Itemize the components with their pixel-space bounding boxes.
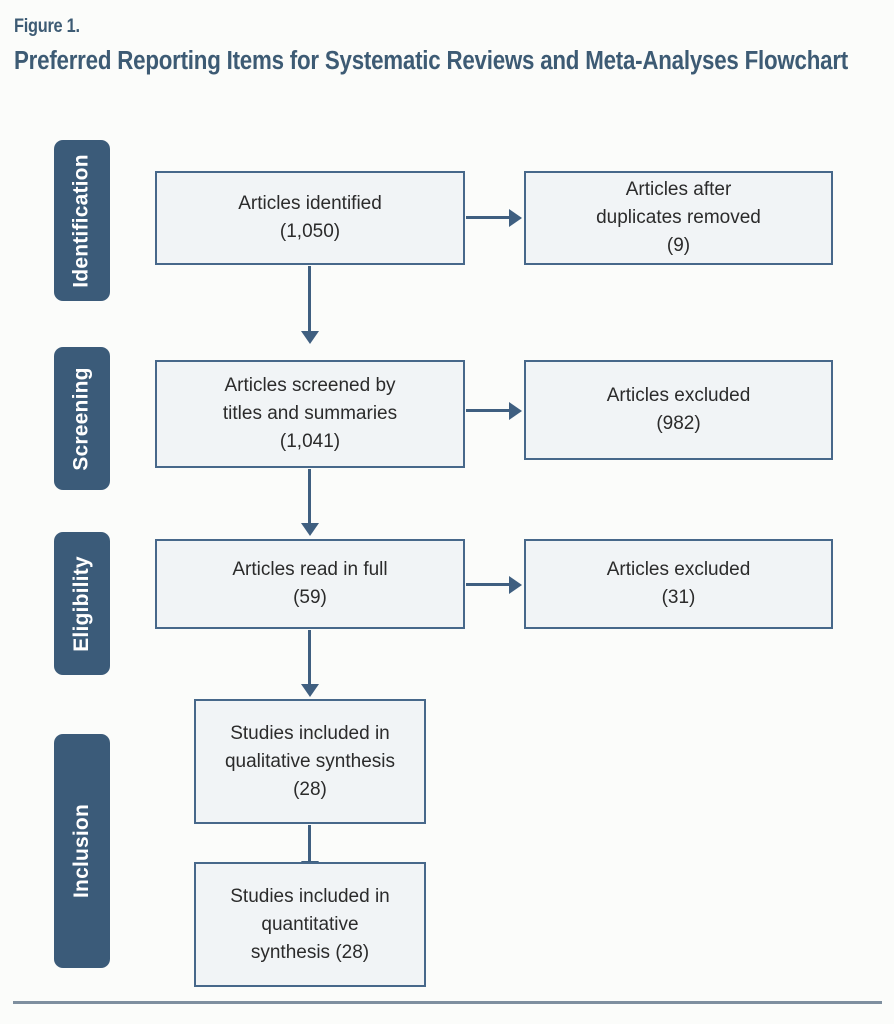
box-articles-identified: Articles identified (1,050) xyxy=(155,171,465,265)
box-articles-excluded-screening-text: Articles excluded (982) xyxy=(599,382,759,438)
stage-band-screening: Screening xyxy=(54,347,110,490)
box-articles-identified-text: Articles identified (1,050) xyxy=(230,190,390,246)
box-articles-read-in-full: Articles read in full (59) xyxy=(155,539,465,629)
box-articles-screened: Articles screened by titles and summarie… xyxy=(155,360,465,468)
box-studies-qualitative-synthesis-text: Studies included in qualitative synthesi… xyxy=(217,720,403,804)
stage-label-inclusion: Inclusion xyxy=(70,804,94,898)
arrow-screened-to-excluded-line xyxy=(466,409,510,412)
arrow-read-full-to-qualitative-head xyxy=(301,684,319,697)
arrow-identified-to-screened-head xyxy=(301,331,319,344)
arrow-read-full-to-excluded-line xyxy=(466,583,510,586)
box-articles-excluded-eligibility: Articles excluded (31) xyxy=(524,539,833,629)
box-studies-quantitative-synthesis-text: Studies included in quantitative synthes… xyxy=(222,883,398,967)
box-studies-qualitative-synthesis: Studies included in qualitative synthesi… xyxy=(194,699,426,824)
box-articles-after-duplicates-removed-text: Articles after duplicates removed (9) xyxy=(588,176,769,260)
stage-band-eligibility: Eligibility xyxy=(54,532,110,675)
arrow-identified-to-screened-line xyxy=(308,266,311,333)
box-articles-read-in-full-text: Articles read in full (59) xyxy=(224,556,395,612)
arrow-read-full-to-qualitative-line xyxy=(308,630,311,686)
arrow-identified-to-duplicates-head xyxy=(509,209,522,227)
arrow-qualitative-to-quantitative-line xyxy=(308,825,311,863)
arrow-read-full-to-excluded-head xyxy=(509,576,522,594)
stage-band-identification: Identification xyxy=(54,140,110,301)
stage-label-screening: Screening xyxy=(70,367,94,470)
footer-divider xyxy=(13,1001,882,1004)
box-articles-after-duplicates-removed: Articles after duplicates removed (9) xyxy=(524,171,833,265)
box-articles-excluded-screening: Articles excluded (982) xyxy=(524,360,833,460)
stage-band-inclusion: Inclusion xyxy=(54,734,110,968)
box-studies-quantitative-synthesis: Studies included in quantitative synthes… xyxy=(194,862,426,987)
arrow-identified-to-duplicates-line xyxy=(466,216,510,219)
prisma-flowchart: Identification Screening Eligibility Inc… xyxy=(0,0,894,1024)
box-articles-excluded-eligibility-text: Articles excluded (31) xyxy=(599,556,759,612)
arrow-screened-to-read-full-line xyxy=(308,469,311,525)
arrow-screened-to-read-full-head xyxy=(301,523,319,536)
stage-label-identification: Identification xyxy=(70,154,94,287)
box-articles-screened-text: Articles screened by titles and summarie… xyxy=(215,372,405,456)
stage-label-eligibility: Eligibility xyxy=(70,556,94,652)
arrow-screened-to-excluded-head xyxy=(509,402,522,420)
